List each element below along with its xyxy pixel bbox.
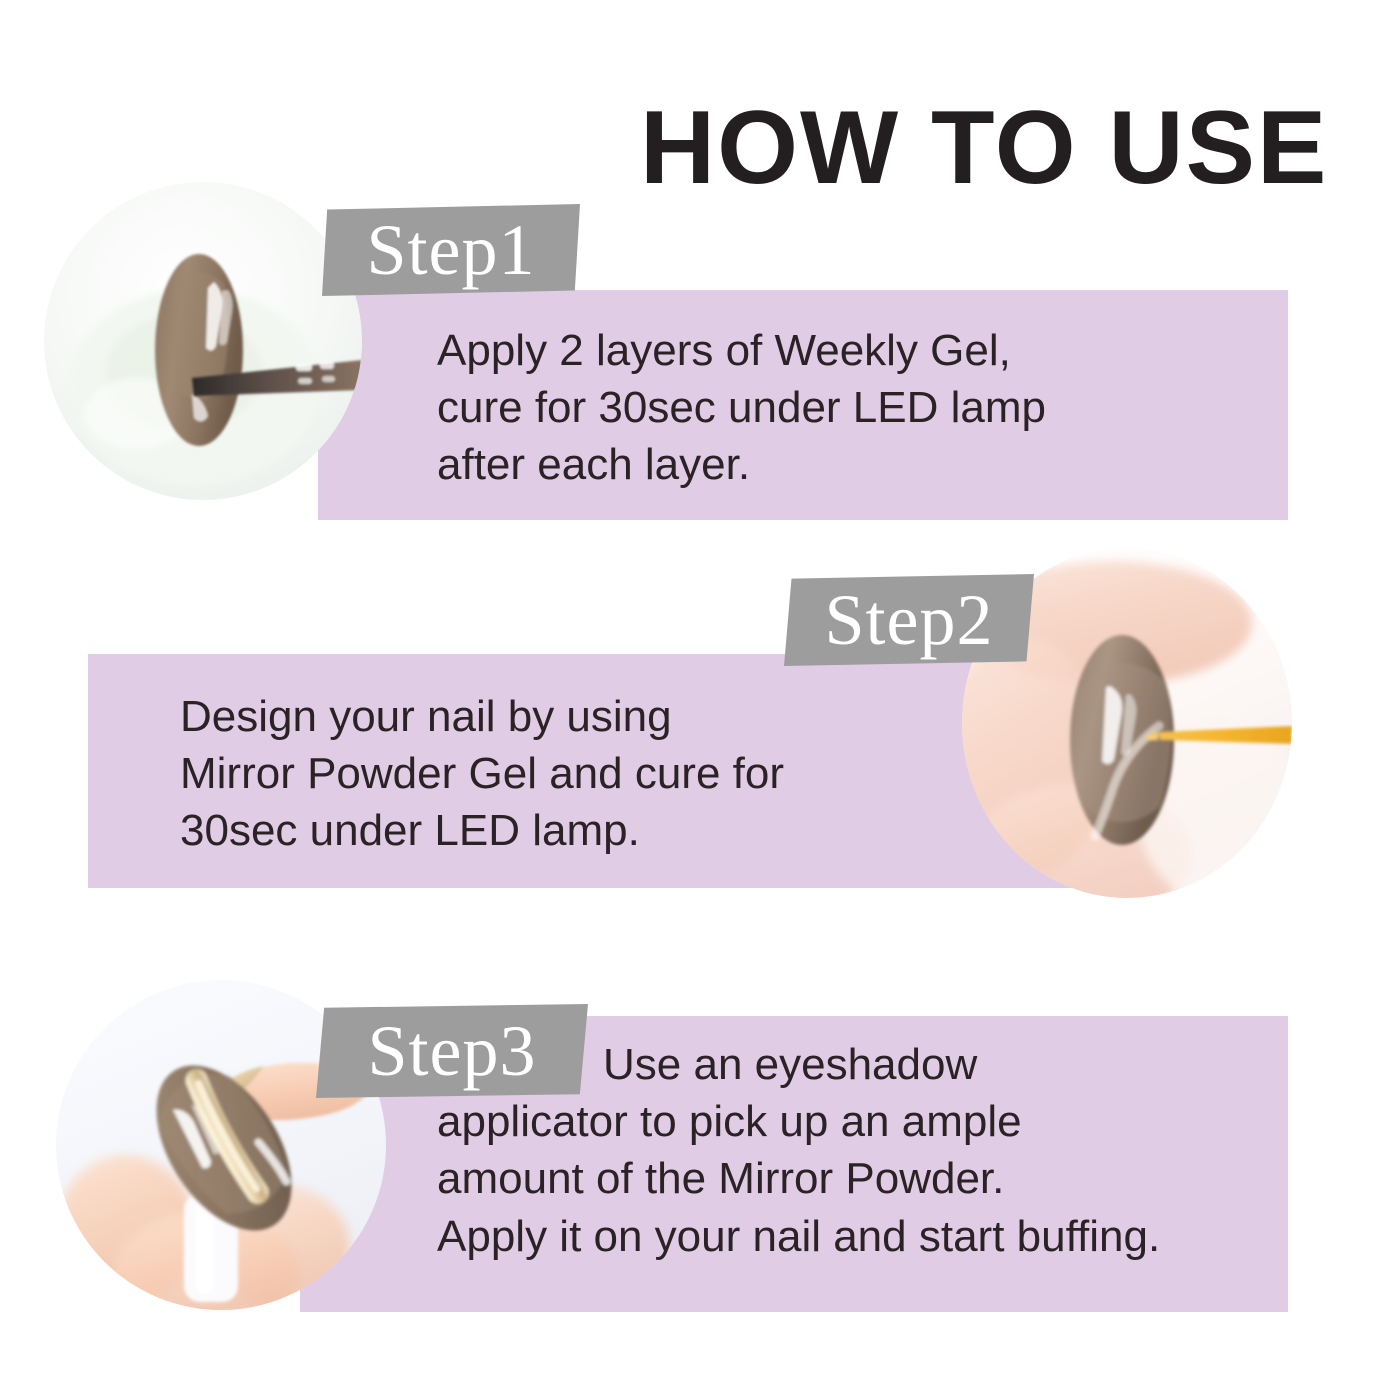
step-2-badge-label: Step2 [824, 584, 993, 656]
step-1-photo [44, 182, 362, 500]
page-title: HOW TO USE [640, 96, 1320, 200]
step-3-body-text: Use an eyeshadowapplicator to pick up an… [437, 1036, 1297, 1265]
step-1-badge: Step1 [322, 204, 580, 296]
step-2-body-text: Design your nail by using Mirror Powder … [180, 688, 1010, 860]
step-1-body-text: Apply 2 layers of Weekly Gel, cure for 3… [437, 322, 1237, 494]
step-1-badge-label: Step1 [366, 214, 535, 286]
step-2-badge: Step2 [784, 574, 1034, 666]
